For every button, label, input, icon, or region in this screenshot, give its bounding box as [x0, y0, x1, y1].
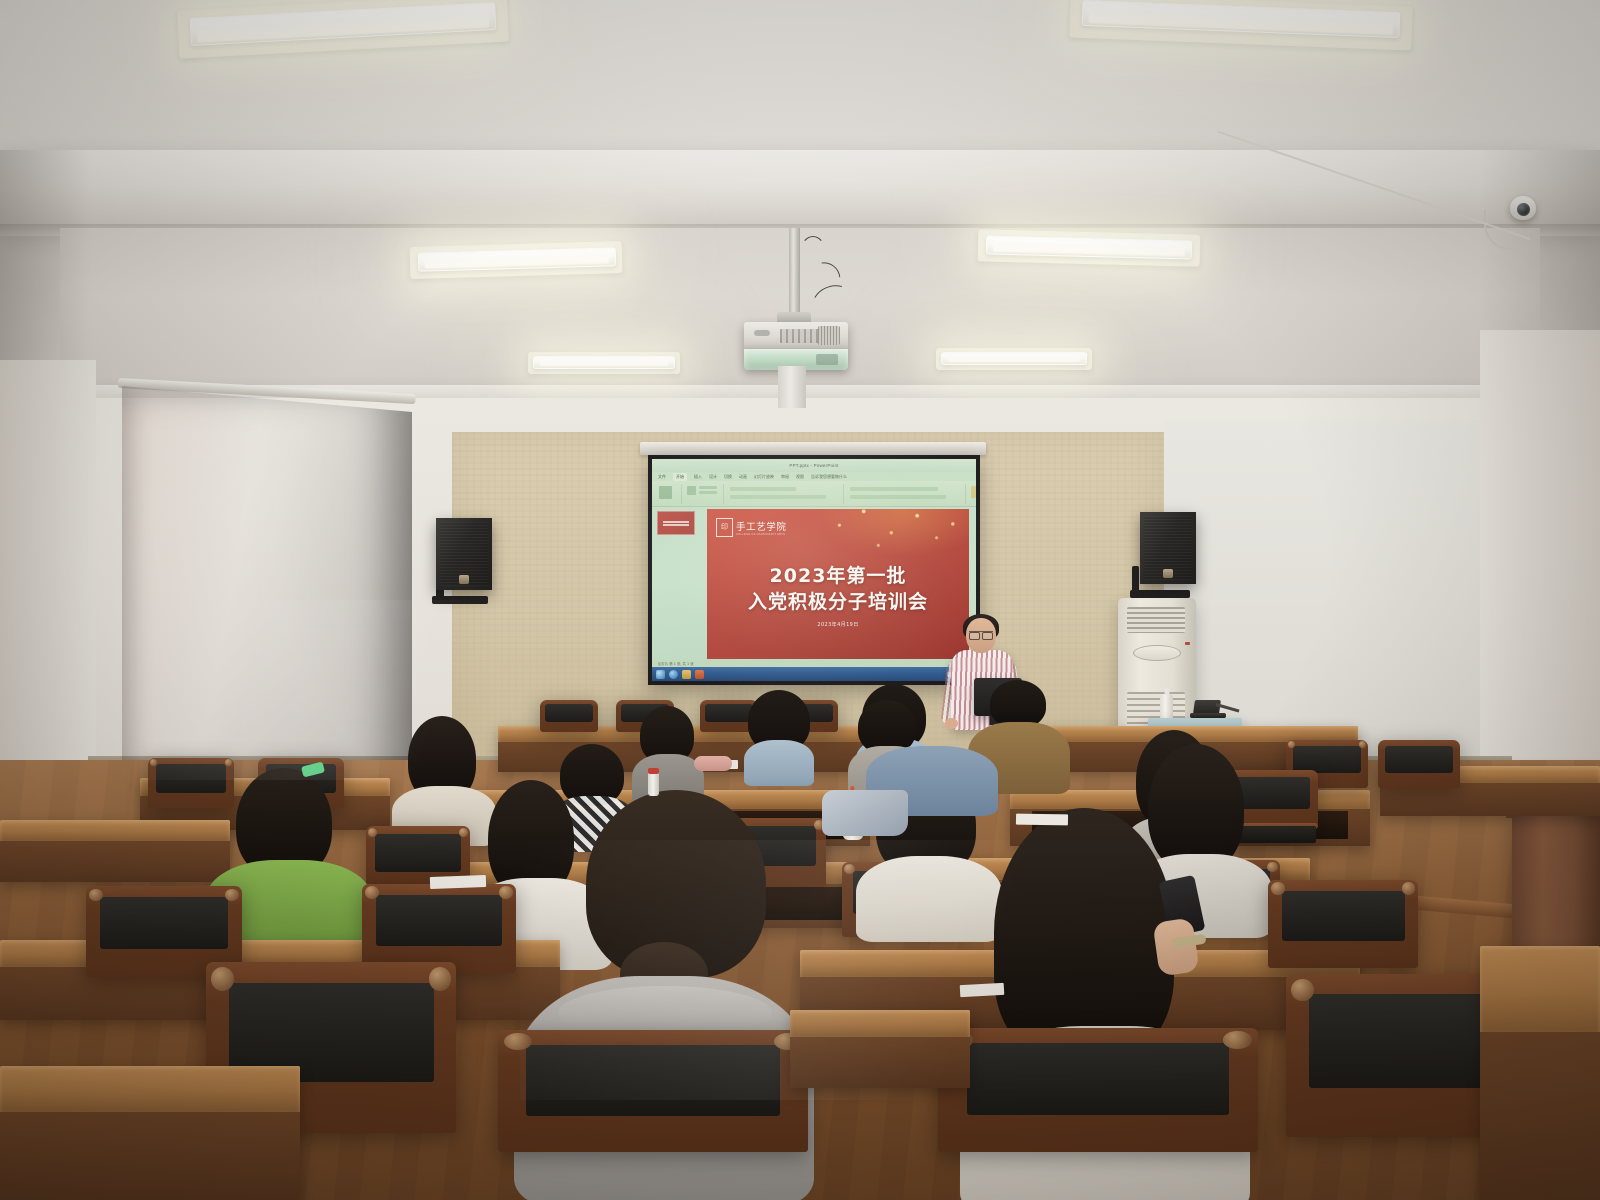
- projection-screen-case: [640, 442, 986, 455]
- chair-knob: [1291, 979, 1314, 1002]
- chair-pad: [375, 834, 460, 872]
- college-logo: 印 手工艺学院 COLLEGE OF HANDICRAFT ARTS: [716, 518, 787, 537]
- slide-heading-line2: 入党积极分子培训会: [707, 587, 969, 614]
- chair-pad: [545, 704, 593, 722]
- projector-ports: [780, 329, 820, 343]
- powerpoint-status-bar: 幻灯片 第 1 张, 共 1 张 100%: [652, 660, 976, 667]
- chair-knob: [211, 967, 234, 991]
- ac-brand-emblem: [1133, 645, 1181, 661]
- chair-pad: [100, 897, 228, 950]
- desk-surface: [0, 820, 230, 841]
- student-desk: [0, 820, 230, 882]
- lecture-chair[interactable]: [540, 700, 598, 744]
- speaker-shelf-right: [1130, 590, 1190, 598]
- chair-knob: [1267, 862, 1277, 872]
- chair-knob: [459, 828, 468, 837]
- start-orb-icon[interactable]: [656, 670, 665, 679]
- ribbon-tab-transitions[interactable]: 切换: [724, 474, 732, 480]
- projection-screen: PPT.pptx - PowerPoint 文件 开始 插入 设计 切换 动画 …: [648, 455, 980, 685]
- ac-power-indicator-icon: [1185, 642, 1190, 645]
- chair-pad: [967, 1043, 1229, 1115]
- paper-sheet[interactable]: [430, 875, 486, 889]
- layout-icon[interactable]: [699, 486, 717, 489]
- slide-heading-line1: 2023年第一批: [707, 561, 969, 588]
- ribbon-tab-insert[interactable]: 插入: [694, 474, 702, 480]
- chair-knob: [499, 886, 513, 898]
- ribbon-tab-slideshow[interactable]: 幻灯片放映: [754, 474, 774, 480]
- desk-surface: [0, 1066, 300, 1112]
- chair-back: [1378, 740, 1460, 788]
- chair-knob: [429, 967, 452, 991]
- desk-panel: [790, 1037, 970, 1088]
- projector-pole: [789, 228, 800, 324]
- thumb-line: [663, 521, 689, 523]
- speaker-badge-icon: [1163, 569, 1173, 578]
- powerpoint-ribbon[interactable]: [652, 481, 976, 507]
- chair-pad: [1282, 891, 1405, 942]
- student-hair: [994, 808, 1174, 1058]
- internet-explorer-icon[interactable]: [669, 670, 678, 679]
- draped-jacket: [822, 790, 908, 836]
- pencil-pouch[interactable]: [694, 756, 732, 771]
- chair-knob: [1223, 1031, 1252, 1048]
- paper-sheet[interactable]: [1016, 814, 1068, 826]
- projected-image: PPT.pptx - PowerPoint 文件 开始 插入 设计 切换 动画 …: [652, 459, 976, 681]
- chair-knob: [1288, 741, 1295, 748]
- student-torso: [856, 856, 1002, 942]
- slide-date: 2023年4月19日: [707, 621, 969, 628]
- speaker-shelf-left: [432, 596, 488, 604]
- logo-seal-icon: 印: [716, 518, 733, 537]
- paper-sheet[interactable]: [960, 983, 1005, 997]
- ribbon-group-clipboard[interactable]: [656, 484, 682, 504]
- fluorescent-tube-light-6: [941, 352, 1087, 365]
- logo-text-cn: 手工艺学院: [736, 519, 787, 533]
- student-desk: [790, 1010, 970, 1088]
- projector-vent: [818, 326, 840, 345]
- curtain-shading: [122, 386, 412, 786]
- chair-pad: [1385, 746, 1452, 774]
- ac-top-vent: [1127, 607, 1185, 633]
- chair-knob: [1402, 882, 1416, 894]
- file-explorer-icon[interactable]: [682, 670, 691, 679]
- reset-icon[interactable]: [699, 491, 717, 494]
- lecture-chair[interactable]: [148, 758, 234, 828]
- chair-pad: [705, 704, 753, 722]
- chair-back: [362, 884, 516, 973]
- ribbon-tab-home[interactable]: 开始: [673, 473, 687, 481]
- glasses-icon: [969, 631, 993, 637]
- lecture-chair[interactable]: [1378, 740, 1460, 806]
- ribbon-group-font[interactable]: [726, 484, 844, 504]
- chair-pad: [376, 895, 502, 947]
- powerpoint-title: PPT.pptx - PowerPoint: [789, 463, 838, 468]
- chair-knob: [365, 886, 379, 898]
- paste-icon[interactable]: [659, 486, 672, 499]
- projector-knob: [754, 330, 770, 336]
- logo-text-en: COLLEGE OF HANDICRAFT ARTS: [736, 533, 787, 536]
- thumb-line: [663, 524, 689, 526]
- bottle-cap: [648, 768, 659, 774]
- lecture-chair[interactable]: [938, 1028, 1258, 1200]
- chair-knob: [89, 889, 103, 902]
- slide-canvas: 印 手工艺学院 COLLEGE OF HANDICRAFT ARTS 2023年…: [707, 509, 969, 659]
- ribbon-tab-design[interactable]: 设计: [709, 474, 717, 480]
- chair-pad: [526, 1045, 780, 1116]
- align-row[interactable]: [850, 487, 938, 491]
- slide-sparkle-decoration: [807, 509, 969, 563]
- classroom-scene: PPT.pptx - PowerPoint 文件 开始 插入 设计 切换 动画 …: [0, 0, 1600, 1200]
- chair-back: [148, 758, 234, 808]
- ceiling-projector: [744, 322, 848, 350]
- presenter-hand: [945, 718, 958, 729]
- ribbon-group-drawing[interactable]: [968, 484, 976, 504]
- student-desk: [1480, 946, 1600, 1200]
- student-desk: [0, 1066, 300, 1200]
- lecture-chair[interactable]: [498, 1030, 808, 1200]
- wall-column: [778, 366, 806, 408]
- wall-speaker-right: [1140, 512, 1196, 584]
- font-style-row[interactable]: [730, 495, 826, 499]
- chair-pad: [1236, 777, 1310, 810]
- wall-speaker-left: [436, 518, 492, 590]
- ribbon-tab-review[interactable]: 审阅: [781, 474, 789, 480]
- chair-back: [1268, 880, 1418, 968]
- desk-panel: [0, 1112, 300, 1200]
- new-slide-icon[interactable]: [687, 486, 696, 495]
- student-hair: [990, 680, 1046, 728]
- ribbon-tab-file[interactable]: 文件: [658, 474, 666, 480]
- shapes-icon[interactable]: [971, 486, 976, 498]
- camera-lens-icon: [1517, 203, 1530, 216]
- chair-back: [540, 700, 598, 732]
- desk-lamp-head[interactable]: [1193, 700, 1221, 714]
- powerpoint-icon[interactable]: [695, 670, 704, 679]
- status-slide-count: 幻灯片 第 1 张, 共 1 张: [658, 661, 694, 666]
- speaker-badge-icon: [459, 575, 469, 584]
- ribbon-tab-tellme[interactable]: 告诉我您想要做什么: [811, 474, 847, 480]
- powerpoint-title-bar: PPT.pptx - PowerPoint: [652, 459, 976, 472]
- ribbon-tab-animations[interactable]: 动画: [739, 474, 747, 480]
- chair-pad: [156, 764, 227, 793]
- desk-panel: [0, 841, 230, 882]
- font-name-box[interactable]: [730, 487, 796, 491]
- desk-panel: [1480, 1032, 1600, 1200]
- desk-surface: [1480, 946, 1600, 1032]
- ribbon-group-paragraph[interactable]: [846, 484, 966, 504]
- chair-knob: [1271, 882, 1285, 894]
- ribbon-tab-view[interactable]: 视图: [796, 474, 804, 480]
- ribbon-group-slides[interactable]: [684, 484, 724, 504]
- windows-taskbar[interactable]: [652, 667, 976, 681]
- fluorescent-tube-light-5: [533, 356, 675, 369]
- powerpoint-ribbon-tabs[interactable]: 文件 开始 插入 设计 切换 动画 幻灯片放映 审阅 视图 告诉我您想要做什么: [652, 472, 976, 481]
- student-torso: [744, 740, 814, 786]
- desk-surface: [790, 1010, 970, 1037]
- chair-back: [938, 1028, 1258, 1152]
- student-hair: [1148, 744, 1244, 872]
- list-row[interactable]: [850, 495, 946, 499]
- slide-thumbnail[interactable]: [657, 511, 695, 535]
- chair-knob: [225, 889, 239, 902]
- chair-back: [498, 1030, 808, 1152]
